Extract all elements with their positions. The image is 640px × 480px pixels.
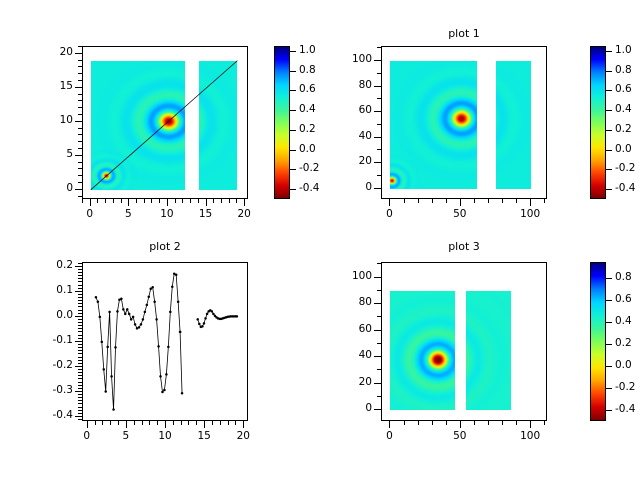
heatmap-area xyxy=(382,263,546,420)
x-minor-tick xyxy=(516,421,517,425)
y-minor-tick xyxy=(377,369,381,370)
y-minor-tick xyxy=(377,263,381,264)
x-minor-tick xyxy=(544,421,545,425)
colorbar-gradient xyxy=(591,263,605,420)
colorbar-tick xyxy=(606,300,612,301)
colorbar-tick-label: -0.4 xyxy=(615,403,636,415)
x-minor-tick xyxy=(432,421,433,425)
x-major-tick xyxy=(460,421,461,428)
x-minor-tick xyxy=(446,421,447,425)
colorbar-tick xyxy=(606,388,612,389)
x-minor-tick xyxy=(404,421,405,425)
x-minor-tick xyxy=(418,421,419,425)
y-major-tick xyxy=(374,277,381,278)
y-minor-tick xyxy=(377,316,381,317)
colorbar-tick xyxy=(606,278,612,279)
heatmap-patch-right xyxy=(466,291,511,410)
x-tick-label: 0 xyxy=(359,430,419,442)
panel-bottom_right: plot 3050100020406080100-0.4-0.20.00.20.… xyxy=(0,0,640,480)
y-major-tick xyxy=(374,383,381,384)
x-tick-label: 50 xyxy=(430,430,490,442)
plot-frame xyxy=(381,262,547,421)
x-minor-tick xyxy=(474,421,475,425)
plot-title: plot 3 xyxy=(381,240,547,253)
colorbar-tick xyxy=(606,322,612,323)
y-major-tick xyxy=(374,356,381,357)
colorbar-tick-label: 0.8 xyxy=(615,271,632,283)
heatmap-patch-left xyxy=(390,291,455,410)
y-minor-tick xyxy=(377,396,381,397)
y-major-tick xyxy=(374,409,381,410)
x-tick-label: 100 xyxy=(500,430,560,442)
y-major-tick xyxy=(374,330,381,331)
x-minor-tick xyxy=(502,421,503,425)
colorbar-tick xyxy=(606,366,612,367)
colorbar-tick xyxy=(606,344,612,345)
colorbar xyxy=(590,262,606,421)
x-minor-tick xyxy=(488,421,489,425)
y-tick-label: 80 xyxy=(312,296,372,308)
colorbar-tick-label: 0.4 xyxy=(615,315,632,327)
colorbar-tick-label: 0.2 xyxy=(615,337,632,349)
colorbar-tick-label: 0.6 xyxy=(615,293,632,305)
colorbar-tick-label: -0.2 xyxy=(615,381,636,393)
figure-canvas: 0510152005101520-0.4-0.20.00.20.40.60.81… xyxy=(0,0,640,480)
x-major-tick xyxy=(530,421,531,428)
y-tick-label: 20 xyxy=(312,376,372,388)
y-minor-tick xyxy=(377,290,381,291)
y-tick-label: 100 xyxy=(312,270,372,282)
y-tick-label: 60 xyxy=(312,323,372,335)
y-tick-label: 40 xyxy=(312,349,372,361)
colorbar-tick-label: 0.0 xyxy=(615,359,632,371)
y-minor-tick xyxy=(377,343,381,344)
y-major-tick xyxy=(374,303,381,304)
x-major-tick xyxy=(389,421,390,428)
y-tick-label: 0 xyxy=(312,402,372,414)
colorbar-tick xyxy=(606,410,612,411)
